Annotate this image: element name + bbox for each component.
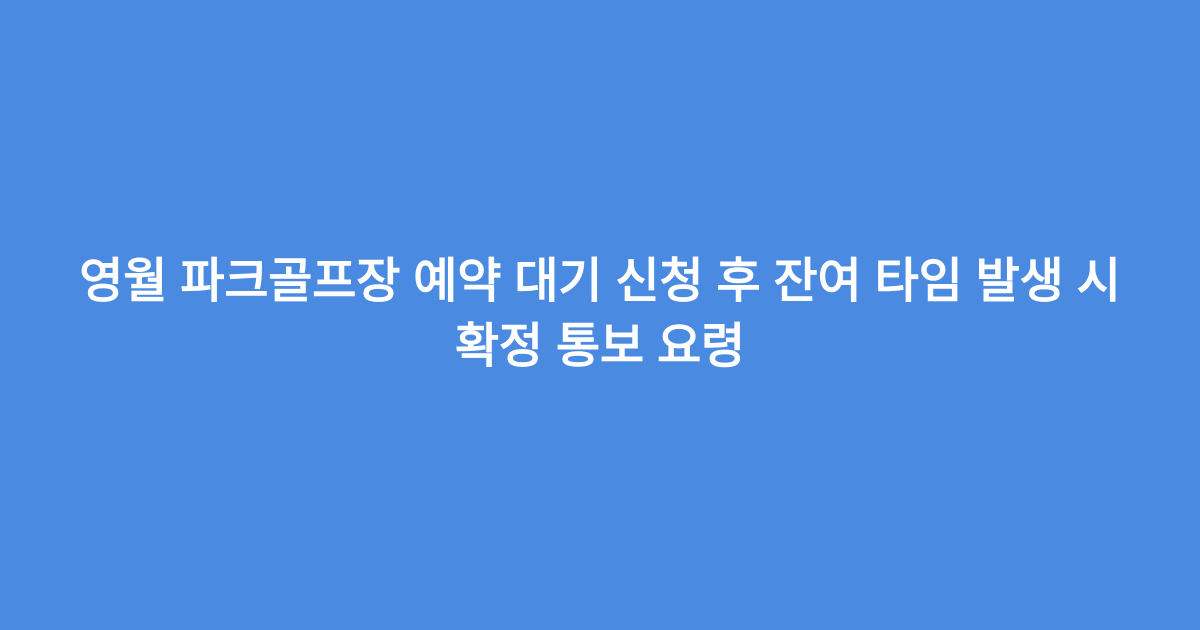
page-title: 영월 파크골프장 예약 대기 신청 후 잔여 타임 발생 시 확정 통보 요령 xyxy=(60,250,1140,380)
title-block: 영월 파크골프장 예약 대기 신청 후 잔여 타임 발생 시 확정 통보 요령 xyxy=(60,250,1140,380)
og-image-card: 영월 파크골프장 예약 대기 신청 후 잔여 타임 발생 시 확정 통보 요령 xyxy=(0,0,1200,630)
